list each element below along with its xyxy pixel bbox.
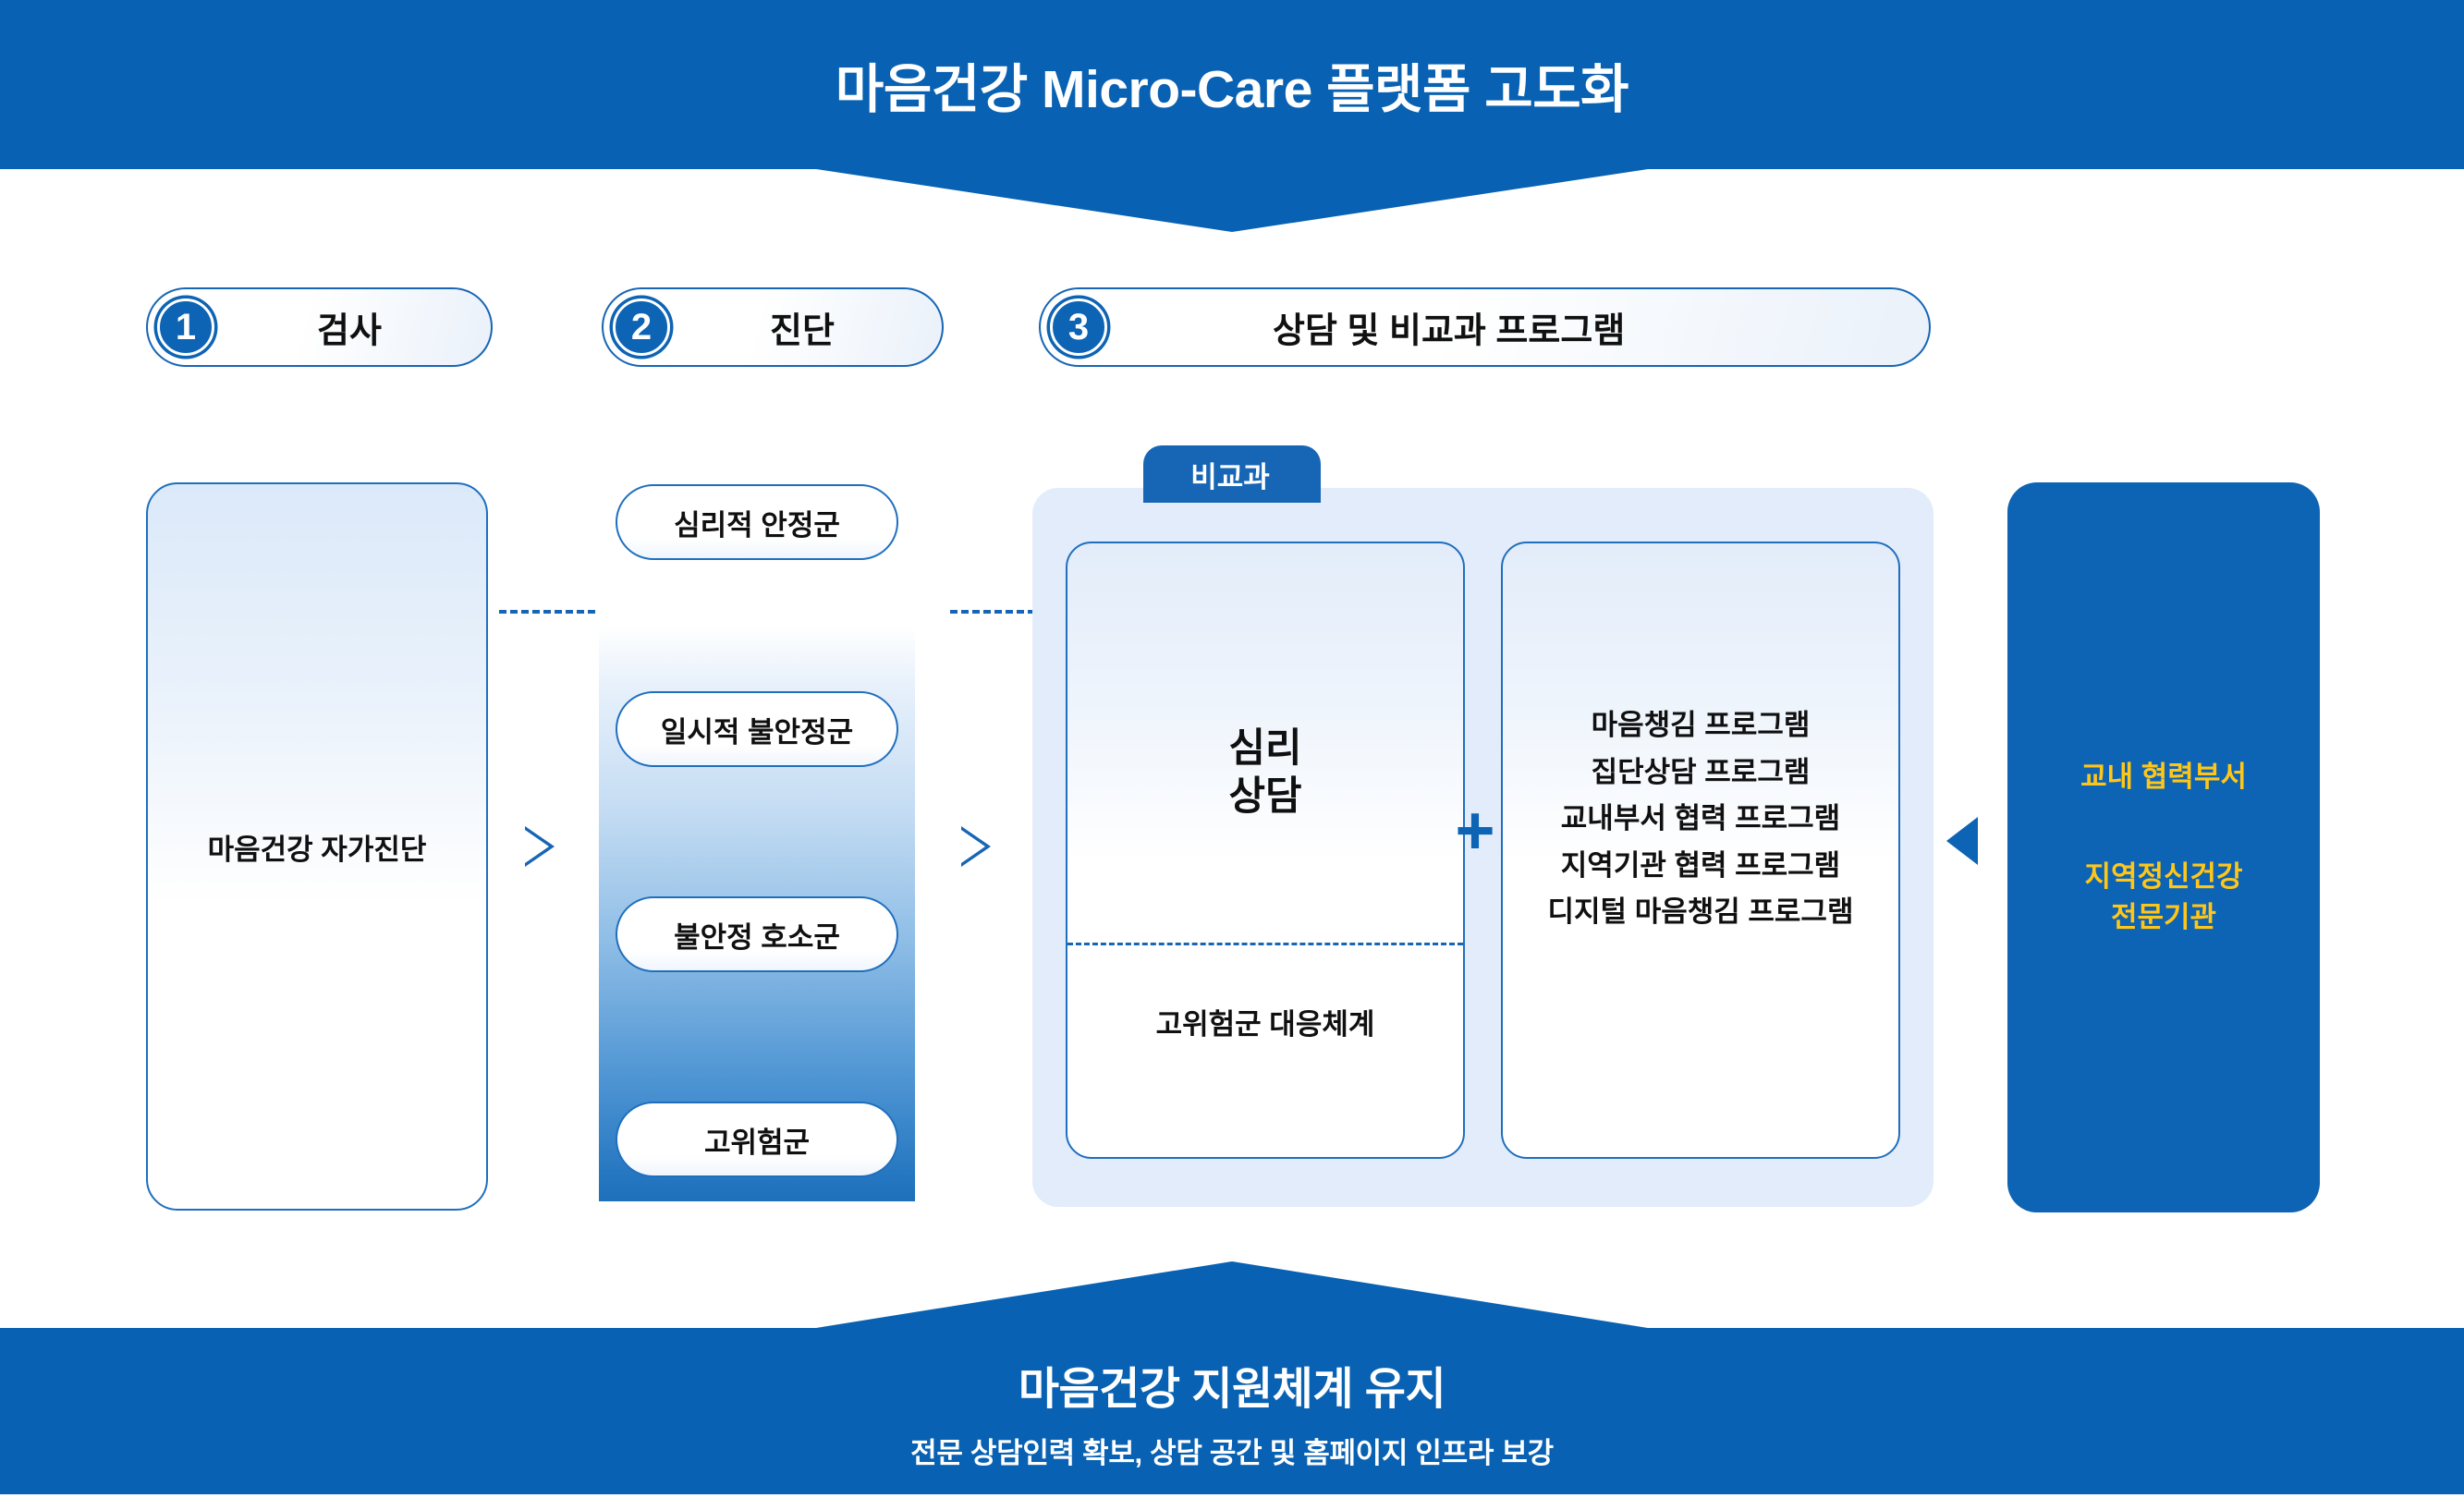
list-item: 교내부서 협력 프로그램 xyxy=(1503,796,1898,843)
triangle-right-outline-icon-2 xyxy=(961,826,991,867)
counseling-main-line-1: 심리 xyxy=(1067,725,1463,773)
risk-classification-column: 심리적 안정군 일시적 불안정군 불안정 호소군 고위험군 xyxy=(599,471,915,1201)
footer-notch-triangle-icon xyxy=(816,1261,1648,1328)
partner-organizations-card[interactable]: 교내 협력부서 지역정신건강 전문기관 xyxy=(2007,482,2320,1212)
counseling-sub-text: 고위험군 대응체계 xyxy=(1067,1001,1463,1042)
list-item: 디지털 마음챙김 프로그램 xyxy=(1503,889,1898,936)
self-diagnosis-card[interactable]: 마음건강 자가진단 xyxy=(146,482,488,1211)
partner-line-3: 전문기관 xyxy=(2111,897,2216,938)
footer-baseline xyxy=(0,1494,2464,1498)
list-item: 지역기관 협력 프로그램 xyxy=(1503,843,1898,890)
extracurricular-tab-label: 비교과 xyxy=(1143,445,1317,503)
risk-group-label-3: 고위험군 xyxy=(704,1119,810,1161)
counseling-main-text: 심리 상담 xyxy=(1067,725,1463,822)
self-diagnosis-label: 마음건강 자가진단 xyxy=(208,826,427,868)
risk-group-item-2[interactable]: 불안정 호소군 xyxy=(616,896,898,972)
triangle-right-outline-icon-1 xyxy=(525,826,555,867)
list-item: 집단상담 프로그램 xyxy=(1503,749,1898,797)
footer-banner: 마음건강 지원체계 유지 전문 상담인력 확보, 상담 공간 및 홈페이지 인프… xyxy=(0,1328,2464,1494)
risk-group-item-3[interactable]: 고위험군 xyxy=(616,1102,898,1177)
extracurricular-program-list: 마음챙김 프로그램 집단상담 프로그램 교내부서 협력 프로그램 지역기관 협력… xyxy=(1503,702,1898,936)
risk-group-label-2: 불안정 호소군 xyxy=(674,914,840,956)
diagram-canvas: 마음건강 Micro-Care 플랫폼 고도화 1 검사 2 진단 3 상담 및… xyxy=(0,0,2464,1498)
risk-group-label-0: 심리적 안정군 xyxy=(674,502,840,543)
counseling-panel[interactable]: 심리 상담 고위험군 대응체계 xyxy=(1066,542,1465,1159)
partner-line-2: 지역정신건강 xyxy=(2084,857,2242,897)
triangle-left-solid-icon xyxy=(1946,817,1978,865)
extracurricular-panel[interactable]: 마음챙김 프로그램 집단상담 프로그램 교내부서 협력 프로그램 지역기관 협력… xyxy=(1501,542,1900,1159)
risk-group-item-1[interactable]: 일시적 불안정군 xyxy=(616,691,898,767)
footer-title: 마음건강 지원체계 유지 xyxy=(1019,1352,1445,1417)
plus-operator-icon: + xyxy=(1444,802,1506,865)
footer-subtitle: 전문 상담인력 확보, 상담 공간 및 홈페이지 인프라 보강 xyxy=(910,1430,1554,1471)
risk-group-label-1: 일시적 불안정군 xyxy=(661,709,853,750)
list-item: 마음챙김 프로그램 xyxy=(1503,702,1898,749)
risk-group-item-0[interactable]: 심리적 안정군 xyxy=(616,484,898,560)
counseling-main-line-2: 상담 xyxy=(1067,773,1463,821)
counseling-divider xyxy=(1067,943,1463,945)
partner-line-1: 교내 협력부서 xyxy=(2080,757,2247,798)
